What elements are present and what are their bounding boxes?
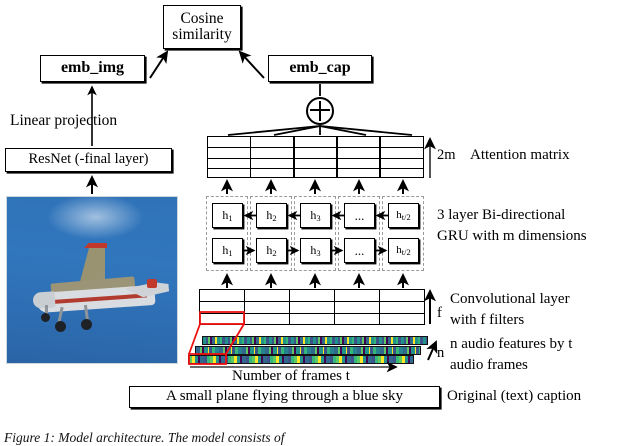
- cosine-similarity-label-line1: Cosine: [180, 11, 223, 27]
- audio-dim-label: n: [437, 345, 444, 362]
- input-image-photo: [6, 196, 178, 364]
- gru-cell-bottom-4: ...: [344, 238, 375, 263]
- cosine-similarity-box[interactable]: Cosine similarity: [163, 5, 241, 49]
- resnet-box[interactable]: ResNet (-final layer): [5, 148, 172, 172]
- emb-cap-label: emb_cap: [289, 60, 350, 77]
- plane-wheel-left: [55, 321, 66, 332]
- gru-cell-top-2: h2: [256, 203, 287, 228]
- connector-attention-to-sum: [228, 126, 412, 135]
- conv-dim-label: f: [437, 305, 442, 322]
- linear-projection-label: Linear projection: [10, 112, 117, 130]
- figure-canvas: Cosine similarity emb_img emb_cap Linear…: [0, 0, 630, 444]
- gru-cell-bottom-1: h1: [212, 238, 243, 263]
- gru-cell-top-1: h1: [212, 203, 243, 228]
- spectrogram-band-mid: [195, 346, 421, 355]
- emb-cap-box[interactable]: emb_cap: [268, 55, 372, 82]
- sum-operator-glyph: [306, 97, 334, 125]
- spectrogram-strip: [188, 336, 428, 366]
- dimension-arrow-n: [428, 342, 436, 360]
- plane-nose-wheel: [41, 313, 50, 322]
- gru-cell-bottom-3: h3: [300, 238, 331, 263]
- frames-axis-label: Number of frames t: [232, 368, 350, 385]
- cosine-similarity-label-line2: similarity: [172, 27, 231, 43]
- gru-cell-top-4: ...: [344, 203, 375, 228]
- plane-rear-marking: [147, 279, 157, 288]
- audio-annotation-line2: audio frames: [450, 357, 528, 374]
- attention-matrix-label: Attention matrix: [470, 147, 570, 164]
- original-caption-box[interactable]: A small plane flying through a blue sky: [129, 386, 440, 408]
- emb-img-box[interactable]: emb_img: [40, 55, 145, 82]
- spectrogram-band-top: [202, 336, 428, 345]
- gru-cell-bottom-5: ht/2: [388, 238, 419, 263]
- audio-annotation-line1: n audio features by t: [450, 336, 572, 353]
- gru-cell-top-5: ht/2: [388, 203, 419, 228]
- emb-img-label: emb_img: [61, 60, 124, 77]
- arrow-embimg-to-cosine: [150, 52, 167, 78]
- conv-annotation-line2: with f filters: [450, 312, 524, 329]
- plane-nose: [32, 291, 55, 308]
- conv-annotation-line1: Convolutional layer: [450, 291, 570, 308]
- spectrogram-band-bottom: [188, 355, 414, 364]
- original-caption-text: A small plane flying through a blue sky: [166, 389, 403, 405]
- attention-matrix: [207, 136, 424, 178]
- gru-annotation-line1: 3 layer Bi-directional: [437, 207, 565, 224]
- original-caption-label: Original (text) caption: [447, 388, 581, 405]
- convolutional-layer-matrix: [199, 289, 425, 325]
- resnet-label: ResNet (-final layer): [29, 152, 149, 167]
- plane-wheel-right: [81, 319, 92, 330]
- arrow-embcap-to-cosine: [240, 52, 264, 78]
- gru-annotation-line2: GRU with m dimensions: [437, 228, 587, 245]
- arrows-gru-to-attention: [227, 181, 403, 194]
- arrows-conv-to-gru: [227, 275, 403, 288]
- gru-cell-top-3: h3: [300, 203, 331, 228]
- gru-cell-bottom-2: h2: [256, 238, 287, 263]
- attention-dim-label: 2m: [437, 147, 456, 164]
